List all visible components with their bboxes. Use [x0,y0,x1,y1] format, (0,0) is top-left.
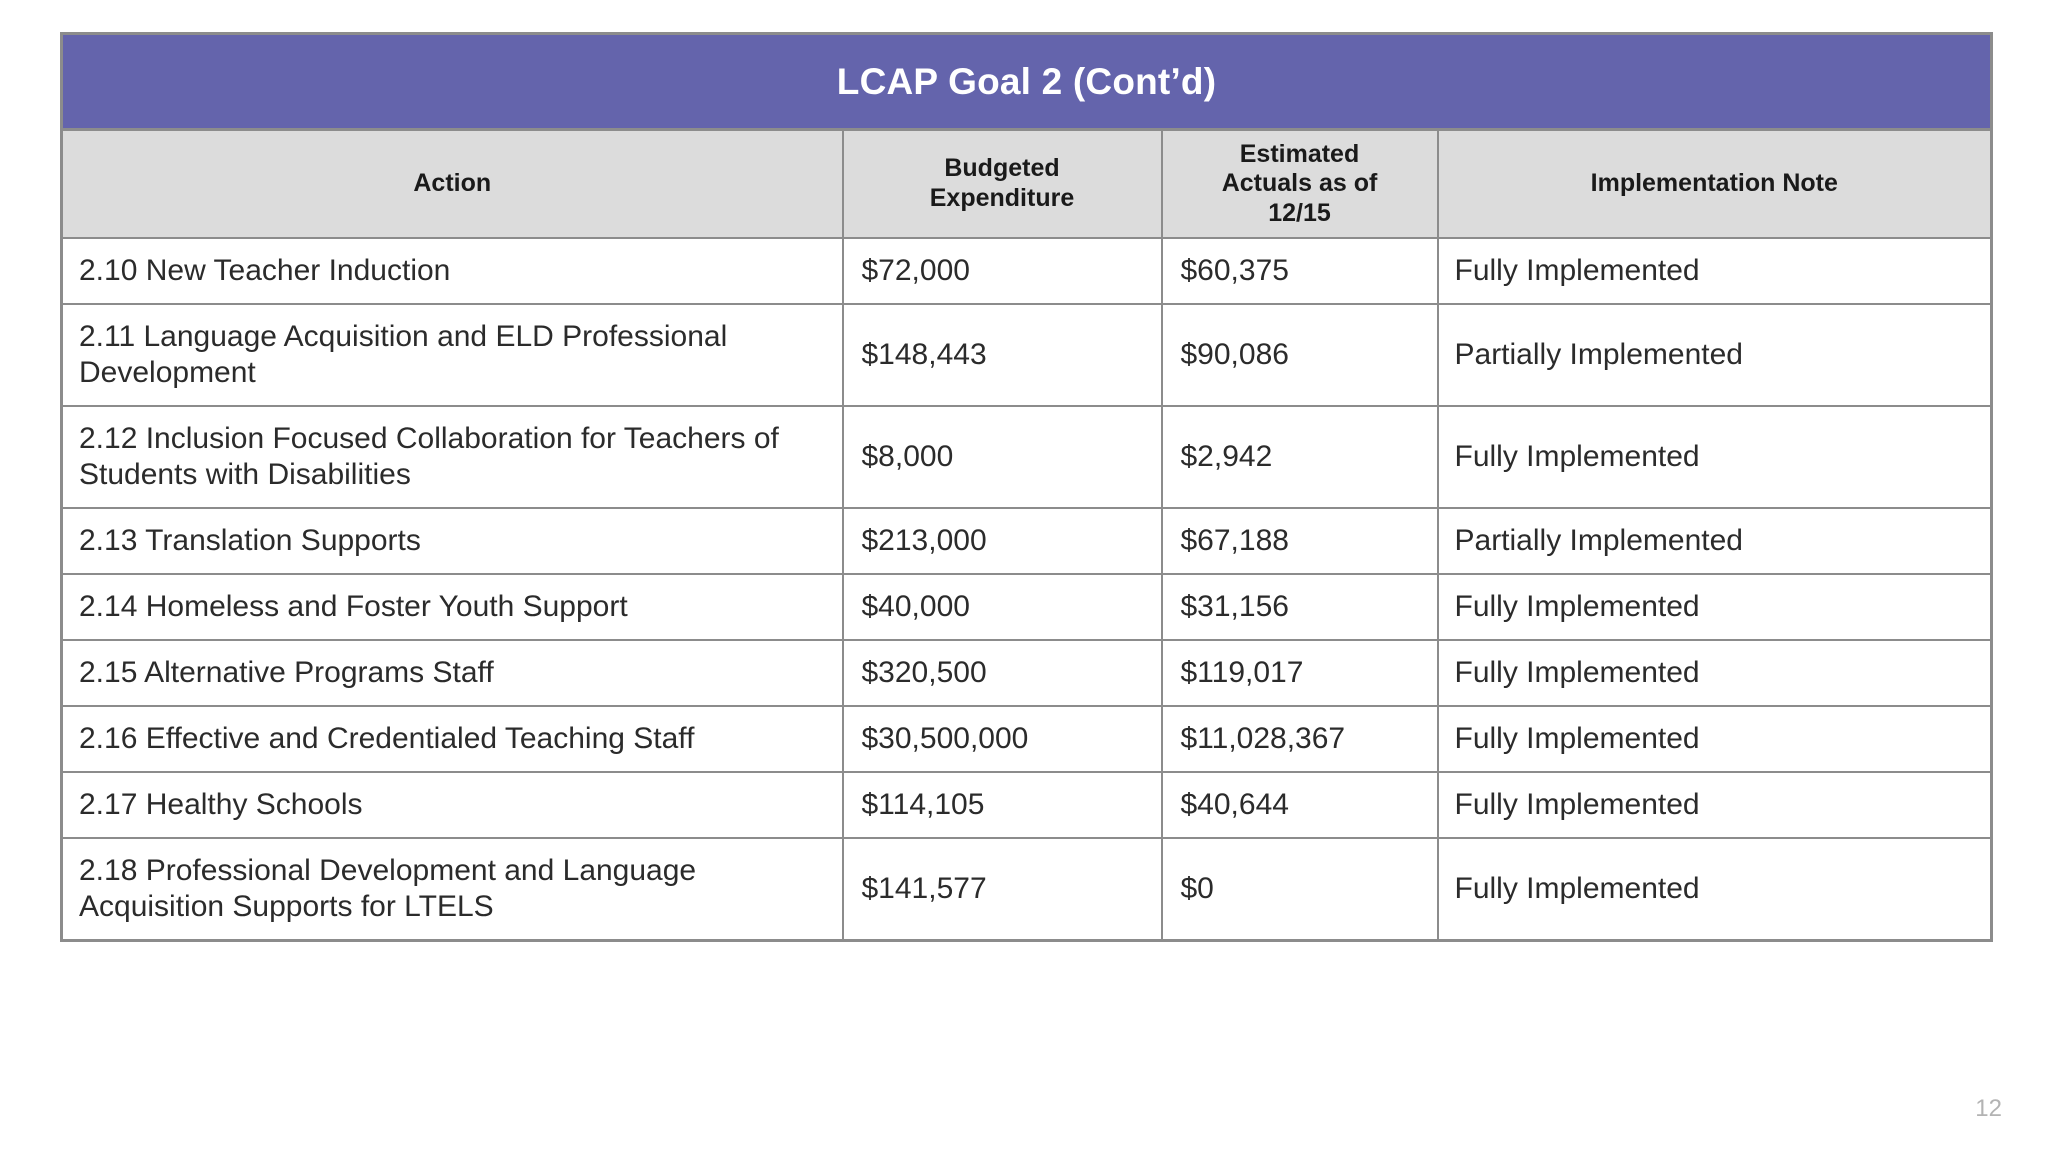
column-header-action-label: Action [413,169,491,197]
column-header-estimated-actuals: Estimated Actuals as of 12/15 [1162,130,1438,238]
cell-action: 2.16 Effective and Credentialed Teaching… [62,706,843,772]
cell-budgeted-expenditure: $72,000 [843,238,1162,304]
cell-budgeted-expenditure: $141,577 [843,838,1162,941]
cell-action: 2.14 Homeless and Foster Youth Support [62,574,843,640]
table-row: 2.13 Translation Supports$213,000$67,188… [62,508,1992,574]
column-header-budgeted-expenditure: Budgeted Expenditure [843,130,1162,238]
cell-implementation-note: Fully Implemented [1438,406,1992,508]
table-row: 2.10 New Teacher Induction$72,000$60,375… [62,238,1992,304]
table-body: 2.10 New Teacher Induction$72,000$60,375… [62,238,1992,941]
cell-implementation-note: Partially Implemented [1438,304,1992,406]
cell-estimated-actuals: $60,375 [1162,238,1438,304]
table-row: 2.18 Professional Development and Langua… [62,838,1992,941]
page-number: 12 [1975,1095,2002,1123]
column-header-row: Action Budgeted Expenditure Estimated Ac… [62,130,1992,238]
cell-implementation-note: Fully Implemented [1438,772,1992,838]
cell-action: 2.10 New Teacher Induction [62,238,843,304]
cell-implementation-note: Fully Implemented [1438,574,1992,640]
column-header-budgeted-line2: Expenditure [930,184,1074,212]
table-row: 2.11 Language Acquisition and ELD Profes… [62,304,1992,406]
lcap-goal-table: LCAP Goal 2 (Cont’d) Action Budgeted Exp… [60,32,1993,942]
table-header: LCAP Goal 2 (Cont’d) Action Budgeted Exp… [62,34,1992,238]
column-header-actuals-line3: 12/15 [1268,199,1331,227]
cell-action: 2.12 Inclusion Focused Collaboration for… [62,406,843,508]
cell-estimated-actuals: $2,942 [1162,406,1438,508]
table-row: 2.12 Inclusion Focused Collaboration for… [62,406,1992,508]
cell-implementation-note: Fully Implemented [1438,238,1992,304]
cell-budgeted-expenditure: $114,105 [843,772,1162,838]
cell-action: 2.11 Language Acquisition and ELD Profes… [62,304,843,406]
cell-estimated-actuals: $11,028,367 [1162,706,1438,772]
title-row: LCAP Goal 2 (Cont’d) [62,34,1992,130]
column-header-implementation-note: Implementation Note [1438,130,1992,238]
cell-action: 2.17 Healthy Schools [62,772,843,838]
column-header-action: Action [62,130,843,238]
slide-title: LCAP Goal 2 (Cont’d) [62,34,1992,130]
cell-estimated-actuals: $119,017 [1162,640,1438,706]
cell-implementation-note: Partially Implemented [1438,508,1992,574]
cell-budgeted-expenditure: $8,000 [843,406,1162,508]
cell-estimated-actuals: $0 [1162,838,1438,941]
column-header-budgeted-line1: Budgeted [944,154,1059,182]
cell-budgeted-expenditure: $30,500,000 [843,706,1162,772]
cell-estimated-actuals: $67,188 [1162,508,1438,574]
table-row: 2.15 Alternative Programs Staff$320,500$… [62,640,1992,706]
cell-action: 2.15 Alternative Programs Staff [62,640,843,706]
column-header-actuals-line2: Actuals as of [1222,169,1378,197]
column-header-actuals-line1: Estimated [1240,140,1359,168]
cell-implementation-note: Fully Implemented [1438,706,1992,772]
cell-budgeted-expenditure: $320,500 [843,640,1162,706]
cell-implementation-note: Fully Implemented [1438,640,1992,706]
cell-budgeted-expenditure: $40,000 [843,574,1162,640]
cell-budgeted-expenditure: $213,000 [843,508,1162,574]
cell-estimated-actuals: $31,156 [1162,574,1438,640]
cell-implementation-note: Fully Implemented [1438,838,1992,941]
table-row: 2.17 Healthy Schools$114,105$40,644Fully… [62,772,1992,838]
table-row: 2.14 Homeless and Foster Youth Support$4… [62,574,1992,640]
cell-action: 2.18 Professional Development and Langua… [62,838,843,941]
column-header-note-label: Implementation Note [1591,169,1838,197]
cell-estimated-actuals: $40,644 [1162,772,1438,838]
table-row: 2.16 Effective and Credentialed Teaching… [62,706,1992,772]
cell-estimated-actuals: $90,086 [1162,304,1438,406]
cell-budgeted-expenditure: $148,443 [843,304,1162,406]
slide-canvas: LCAP Goal 2 (Cont’d) Action Budgeted Exp… [0,0,2048,1153]
cell-action: 2.13 Translation Supports [62,508,843,574]
